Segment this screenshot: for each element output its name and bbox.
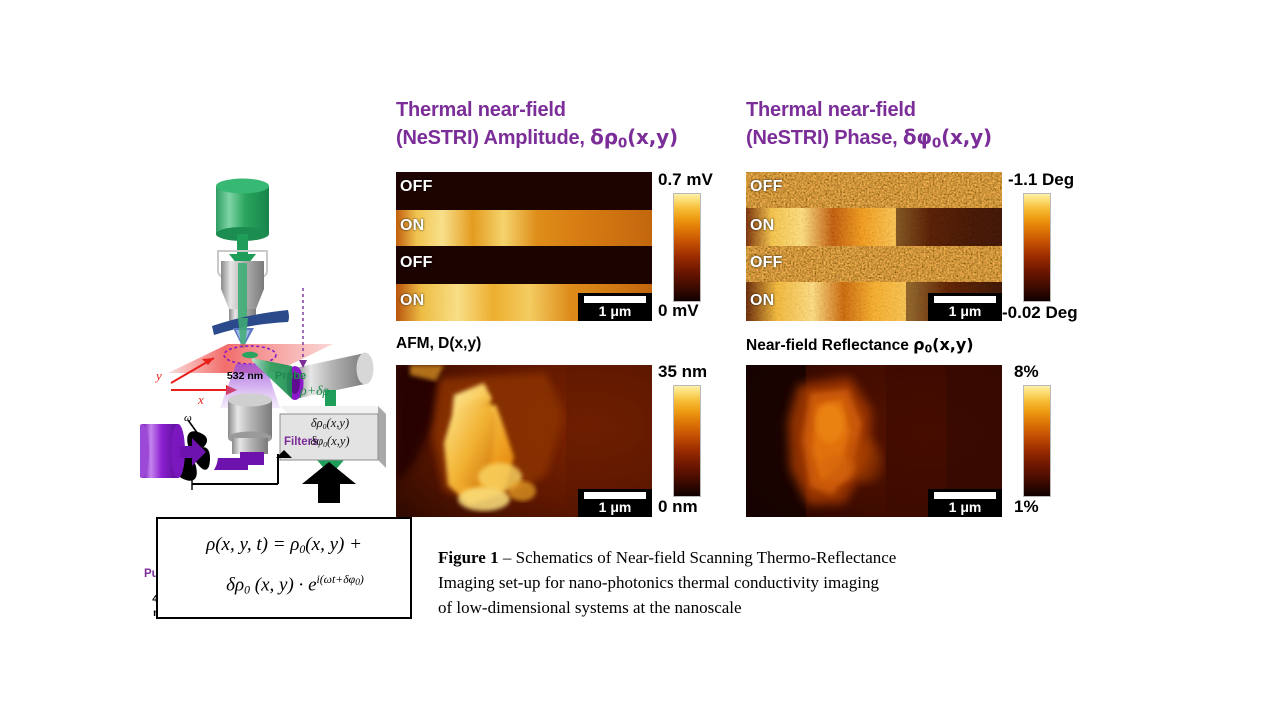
colorbar-reflectance: 8% 1% xyxy=(1008,362,1088,522)
scan-label-on-1: ON xyxy=(750,217,774,235)
scan-label-off-2: OFF xyxy=(750,254,783,272)
panel4-title-symbol: ρ0(x,y) xyxy=(913,335,973,354)
panel-title-reflectance: Near-field Reflectance ρ0(x,y) xyxy=(746,335,974,356)
equation-line-1: ρ(x, y, t) = ρ0(x, y) + xyxy=(206,534,362,555)
scalebar-nestri-phase: 1 μm xyxy=(928,293,1002,321)
image-nestri-amplitude[interactable]: OFF ON OFF ON 1 μm xyxy=(396,172,652,321)
caption-line-1: Figure 1 – Schematics of Near-field Scan… xyxy=(438,545,1118,570)
colorbar-nestri-amplitude: 0.7 mV 0 mV xyxy=(658,170,736,325)
schematic-svg xyxy=(140,168,400,503)
colorbar-gradient xyxy=(1023,193,1051,302)
scalebar-afm: 1 μm xyxy=(578,489,652,517)
afm-cantilever xyxy=(212,310,289,348)
panel-title-nestri-phase: Thermal near-field (NeSTRI) Phase, δφ0(x… xyxy=(746,97,992,157)
pump-laser-source xyxy=(140,424,185,478)
scalebar-line xyxy=(934,296,996,303)
scan-label-off-1: OFF xyxy=(750,178,783,196)
scalebar-text: 1 μm xyxy=(599,304,632,319)
scan-label-off-2: OFF xyxy=(400,254,433,272)
signal-label: ρ+δρ xyxy=(300,384,329,400)
colorbar-gradient xyxy=(673,193,701,302)
scan-label-on-2: ON xyxy=(400,292,424,310)
scalebar-line xyxy=(584,296,646,303)
colorbar-afm: 35 nm 0 nm xyxy=(658,362,738,522)
probe-laser-source xyxy=(216,179,269,242)
scalebar-text: 1 μm xyxy=(949,304,982,319)
colorbar-min-label: 1% xyxy=(1014,497,1039,517)
scalebar-line xyxy=(584,492,646,499)
equation-box: ρ(x, y, t) = ρ0(x, y) + δρ0 (x, y) · ei(… xyxy=(156,517,412,619)
omega-label: ω xyxy=(184,412,192,424)
caption-figure-number: Figure 1 xyxy=(438,548,499,567)
scalebar-nestri-amplitude: 1 μm xyxy=(578,293,652,321)
panel3-title: AFM, D(x,y) xyxy=(396,335,481,352)
detector-amplitude-line: δρ0(x,y) xyxy=(284,416,376,434)
scalebar-text: 1 μm xyxy=(949,500,982,515)
axis-y-label: y xyxy=(156,368,162,384)
probe-label: Probe xyxy=(275,370,306,382)
equation-text: ρ(x, y, t) = ρ0(x, y) + δρ0 (x, y) · ei(… xyxy=(204,530,364,605)
scan-label-off-1: OFF xyxy=(400,178,433,196)
figure-canvas: 532 nm Probe Filters Pump 405 nm ω ρ+δρ … xyxy=(0,0,1280,720)
objective-lens-bottom xyxy=(228,394,272,455)
colorbar-gradient xyxy=(1023,385,1051,497)
caption-line-3: of low-dimensional systems at the nanosc… xyxy=(438,595,1118,620)
colorbar-nestri-phase: -1.1 Deg -0.02 Deg xyxy=(1008,170,1098,330)
scan-label-on-1: ON xyxy=(400,217,424,235)
panel2-title-line2a: (NeSTRI) Phase, xyxy=(746,127,903,149)
equation-line-2: δρ0 (x, y) · ei(ωt+δφ0) xyxy=(204,565,364,605)
detector-box-text: δρ0(x,y) δφ0(x,y) xyxy=(284,416,376,452)
colorbar-gradient xyxy=(673,385,701,497)
probe-wavelength-label: 532 nm xyxy=(220,370,270,382)
colorbar-max-label: 0.7 mV xyxy=(658,170,713,190)
colorbar-max-label: -1.1 Deg xyxy=(1008,170,1074,190)
detector-phase-line: δφ0(x,y) xyxy=(284,434,376,452)
colorbar-max-label: 8% xyxy=(1014,362,1039,382)
panel1-title-line1: Thermal near-field xyxy=(396,99,566,121)
colorbar-min-label: 0 nm xyxy=(658,497,698,517)
scalebar-text: 1 μm xyxy=(599,500,632,515)
caption-line-2: Imaging set-up for nano-photonics therma… xyxy=(438,570,1118,595)
panel1-title-line2a: (NeSTRI) Amplitude, xyxy=(396,127,590,149)
input-black-arrow xyxy=(302,462,356,503)
scalebar-line xyxy=(934,492,996,499)
scan-label-on-2: ON xyxy=(750,292,774,310)
panel2-title-line1: Thermal near-field xyxy=(746,99,916,121)
panel2-title-symbol: δφ0(x,y) xyxy=(903,125,992,149)
panel1-title-symbol: δρ0(x,y) xyxy=(590,125,678,149)
panel-title-nestri-amplitude: Thermal near-field (NeSTRI) Amplitude, δ… xyxy=(396,97,678,157)
colorbar-min-label: -0.02 Deg xyxy=(1002,303,1078,323)
image-nestri-phase[interactable]: OFF ON OFF ON 1 μm xyxy=(746,172,1002,321)
setup-schematic: 532 nm Probe Filters Pump 405 nm ω ρ+δρ … xyxy=(140,168,400,503)
colorbar-min-label: 0 mV xyxy=(658,301,699,321)
figure-caption: Figure 1 – Schematics of Near-field Scan… xyxy=(438,545,1118,620)
panel-title-afm: AFM, D(x,y) xyxy=(396,335,481,353)
image-near-field-reflectance[interactable]: 1 μm xyxy=(746,365,1002,517)
panel4-title: Near-field Reflectance xyxy=(746,337,913,354)
axis-x-label: x xyxy=(198,392,204,408)
scalebar-reflectance: 1 μm xyxy=(928,489,1002,517)
caption-line-1-rest: – Schematics of Near-field Scanning Ther… xyxy=(499,548,897,567)
colorbar-max-label: 35 nm xyxy=(658,362,707,382)
image-afm[interactable]: 1 μm xyxy=(396,365,652,517)
